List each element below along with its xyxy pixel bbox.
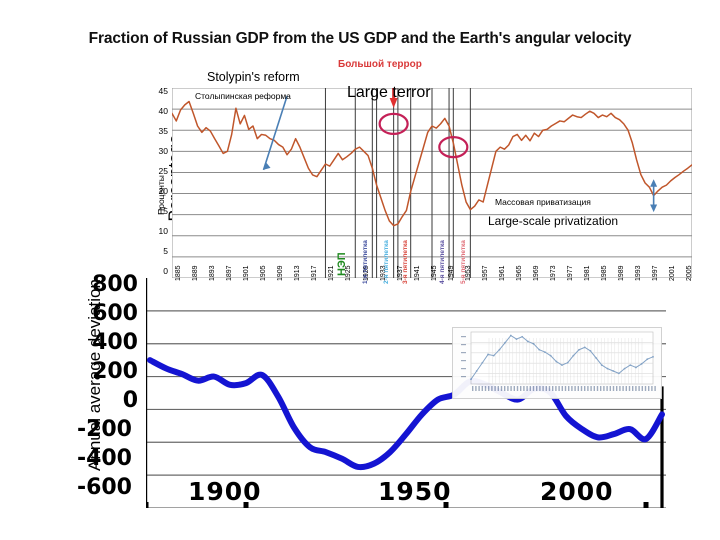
top-chart-ytick: 5 [142,246,168,256]
annotation-stolypin-en: Stolypin's reform [207,70,300,84]
slide-canvas: Fraction of Russian GDP from the US GDP … [0,0,720,540]
top-chart-ytick: 25 [142,166,168,176]
top-chart-ytick: 40 [142,106,168,116]
top-chart-ytick: 45 [142,86,168,96]
bottom-chart-angular-velocity: Annual average deviation 800 600 400 200… [0,270,720,540]
top-chart-ytick: 10 [142,226,168,236]
bottom-chart-ytick: 600 [52,301,138,326]
inset-thumbnail-chart [452,327,662,399]
bottom-chart-ytick: 400 [52,330,138,355]
bottom-chart-ytick: -600 [46,475,132,500]
bottom-chart-ytick: 200 [52,359,138,384]
annotation-large-terror-ru: Большой террор [338,59,422,70]
annotation-privatization-en: Large-scale privatization [488,214,618,228]
bottom-chart-xtick: 2000 [540,477,614,506]
bottom-chart-ytick: 800 [52,272,138,297]
bottom-chart-ytick: -400 [46,446,132,471]
top-chart-ytick: 15 [142,206,168,216]
page-title: Fraction of Russian GDP from the US GDP … [0,30,720,48]
bottom-chart-xtick: 1900 [188,477,262,506]
bottom-chart-xtick: 1950 [378,477,452,506]
inset-plot [453,328,659,396]
bottom-chart-ytick: -200 [46,417,132,442]
top-chart-ytick: 35 [142,126,168,136]
top-chart-ytick: 30 [142,146,168,156]
annotation-large-terror-en: Large terror [347,84,431,102]
annotation-privatization-ru: Массовая приватизация [495,197,591,207]
annotation-stolypin-ru: Столыпинская реформа [195,91,291,101]
bottom-chart-ytick: 0 [52,388,138,413]
top-chart-gdp: Percentage Проценты 45 40 35 30 25 20 15… [0,60,720,290]
top-chart-plot [172,88,692,278]
top-chart-ytick: 20 [142,186,168,196]
